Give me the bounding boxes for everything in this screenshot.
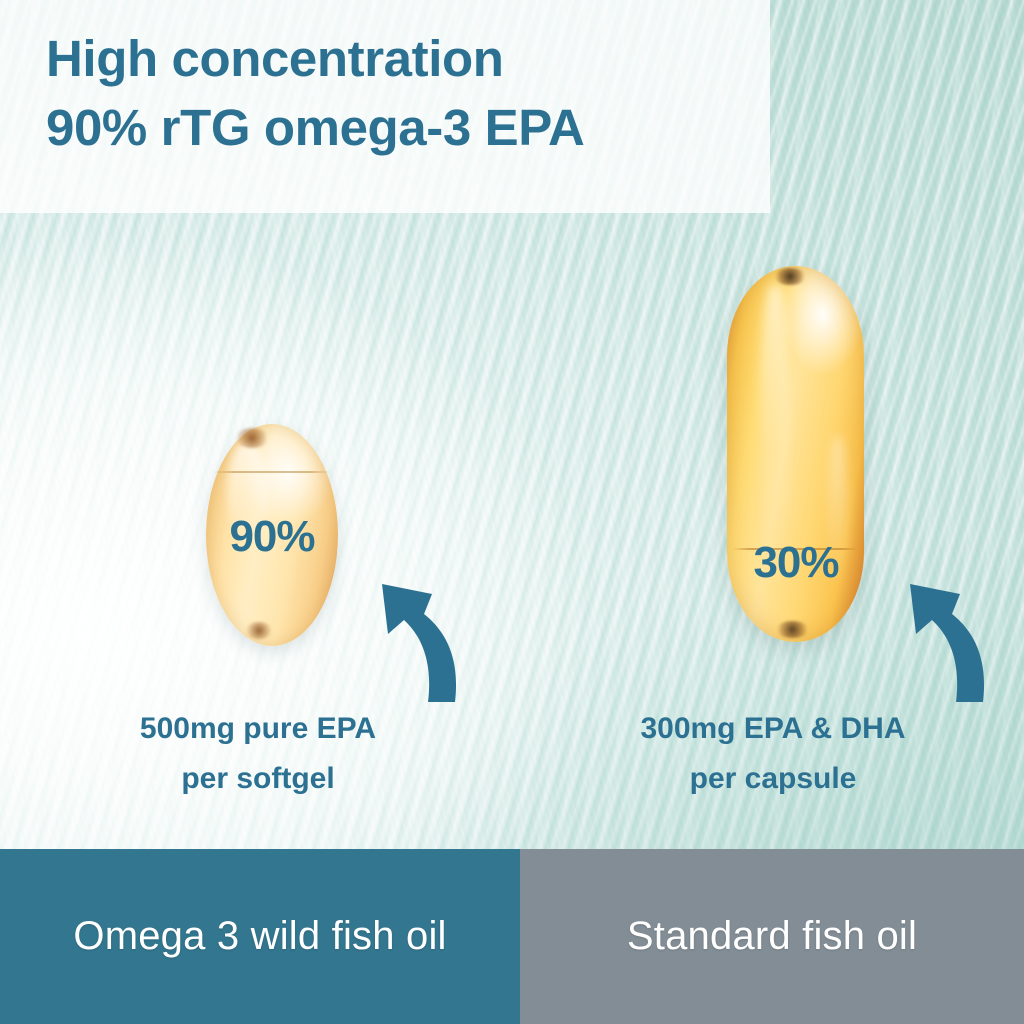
headline-panel: High concentration 90% rTG omega-3 EPA xyxy=(0,0,770,213)
capsule-nub-bottom-left xyxy=(246,622,272,640)
percent-label-left: 90% xyxy=(196,512,348,562)
capsule-seam-left xyxy=(213,471,332,473)
product-bar-label-left: Omega 3 wild fish oil xyxy=(73,914,446,959)
capsule-nub-top-right xyxy=(774,268,807,285)
product-comparison-graphic: High concentration 90% rTG omega-3 EPA 9… xyxy=(0,0,1024,1024)
capsule-nub-top-left xyxy=(235,428,269,448)
caption-left: 500mg pure EPA per softgel xyxy=(68,704,448,803)
caption-right: 300mg EPA & DHA per capsule xyxy=(573,704,973,803)
product-bar-right: Standard fish oil xyxy=(520,849,1024,1024)
curved-up-arrow-icon-right xyxy=(888,572,992,704)
curved-up-arrow-icon-left xyxy=(360,572,464,704)
product-bar-label-right: Standard fish oil xyxy=(627,914,917,959)
capsule-nub-bottom-right xyxy=(776,621,809,638)
percent-label-right: 30% xyxy=(714,538,878,588)
product-bar-left: Omega 3 wild fish oil xyxy=(0,849,520,1024)
headline-text: High concentration 90% rTG omega-3 EPA xyxy=(46,24,756,163)
